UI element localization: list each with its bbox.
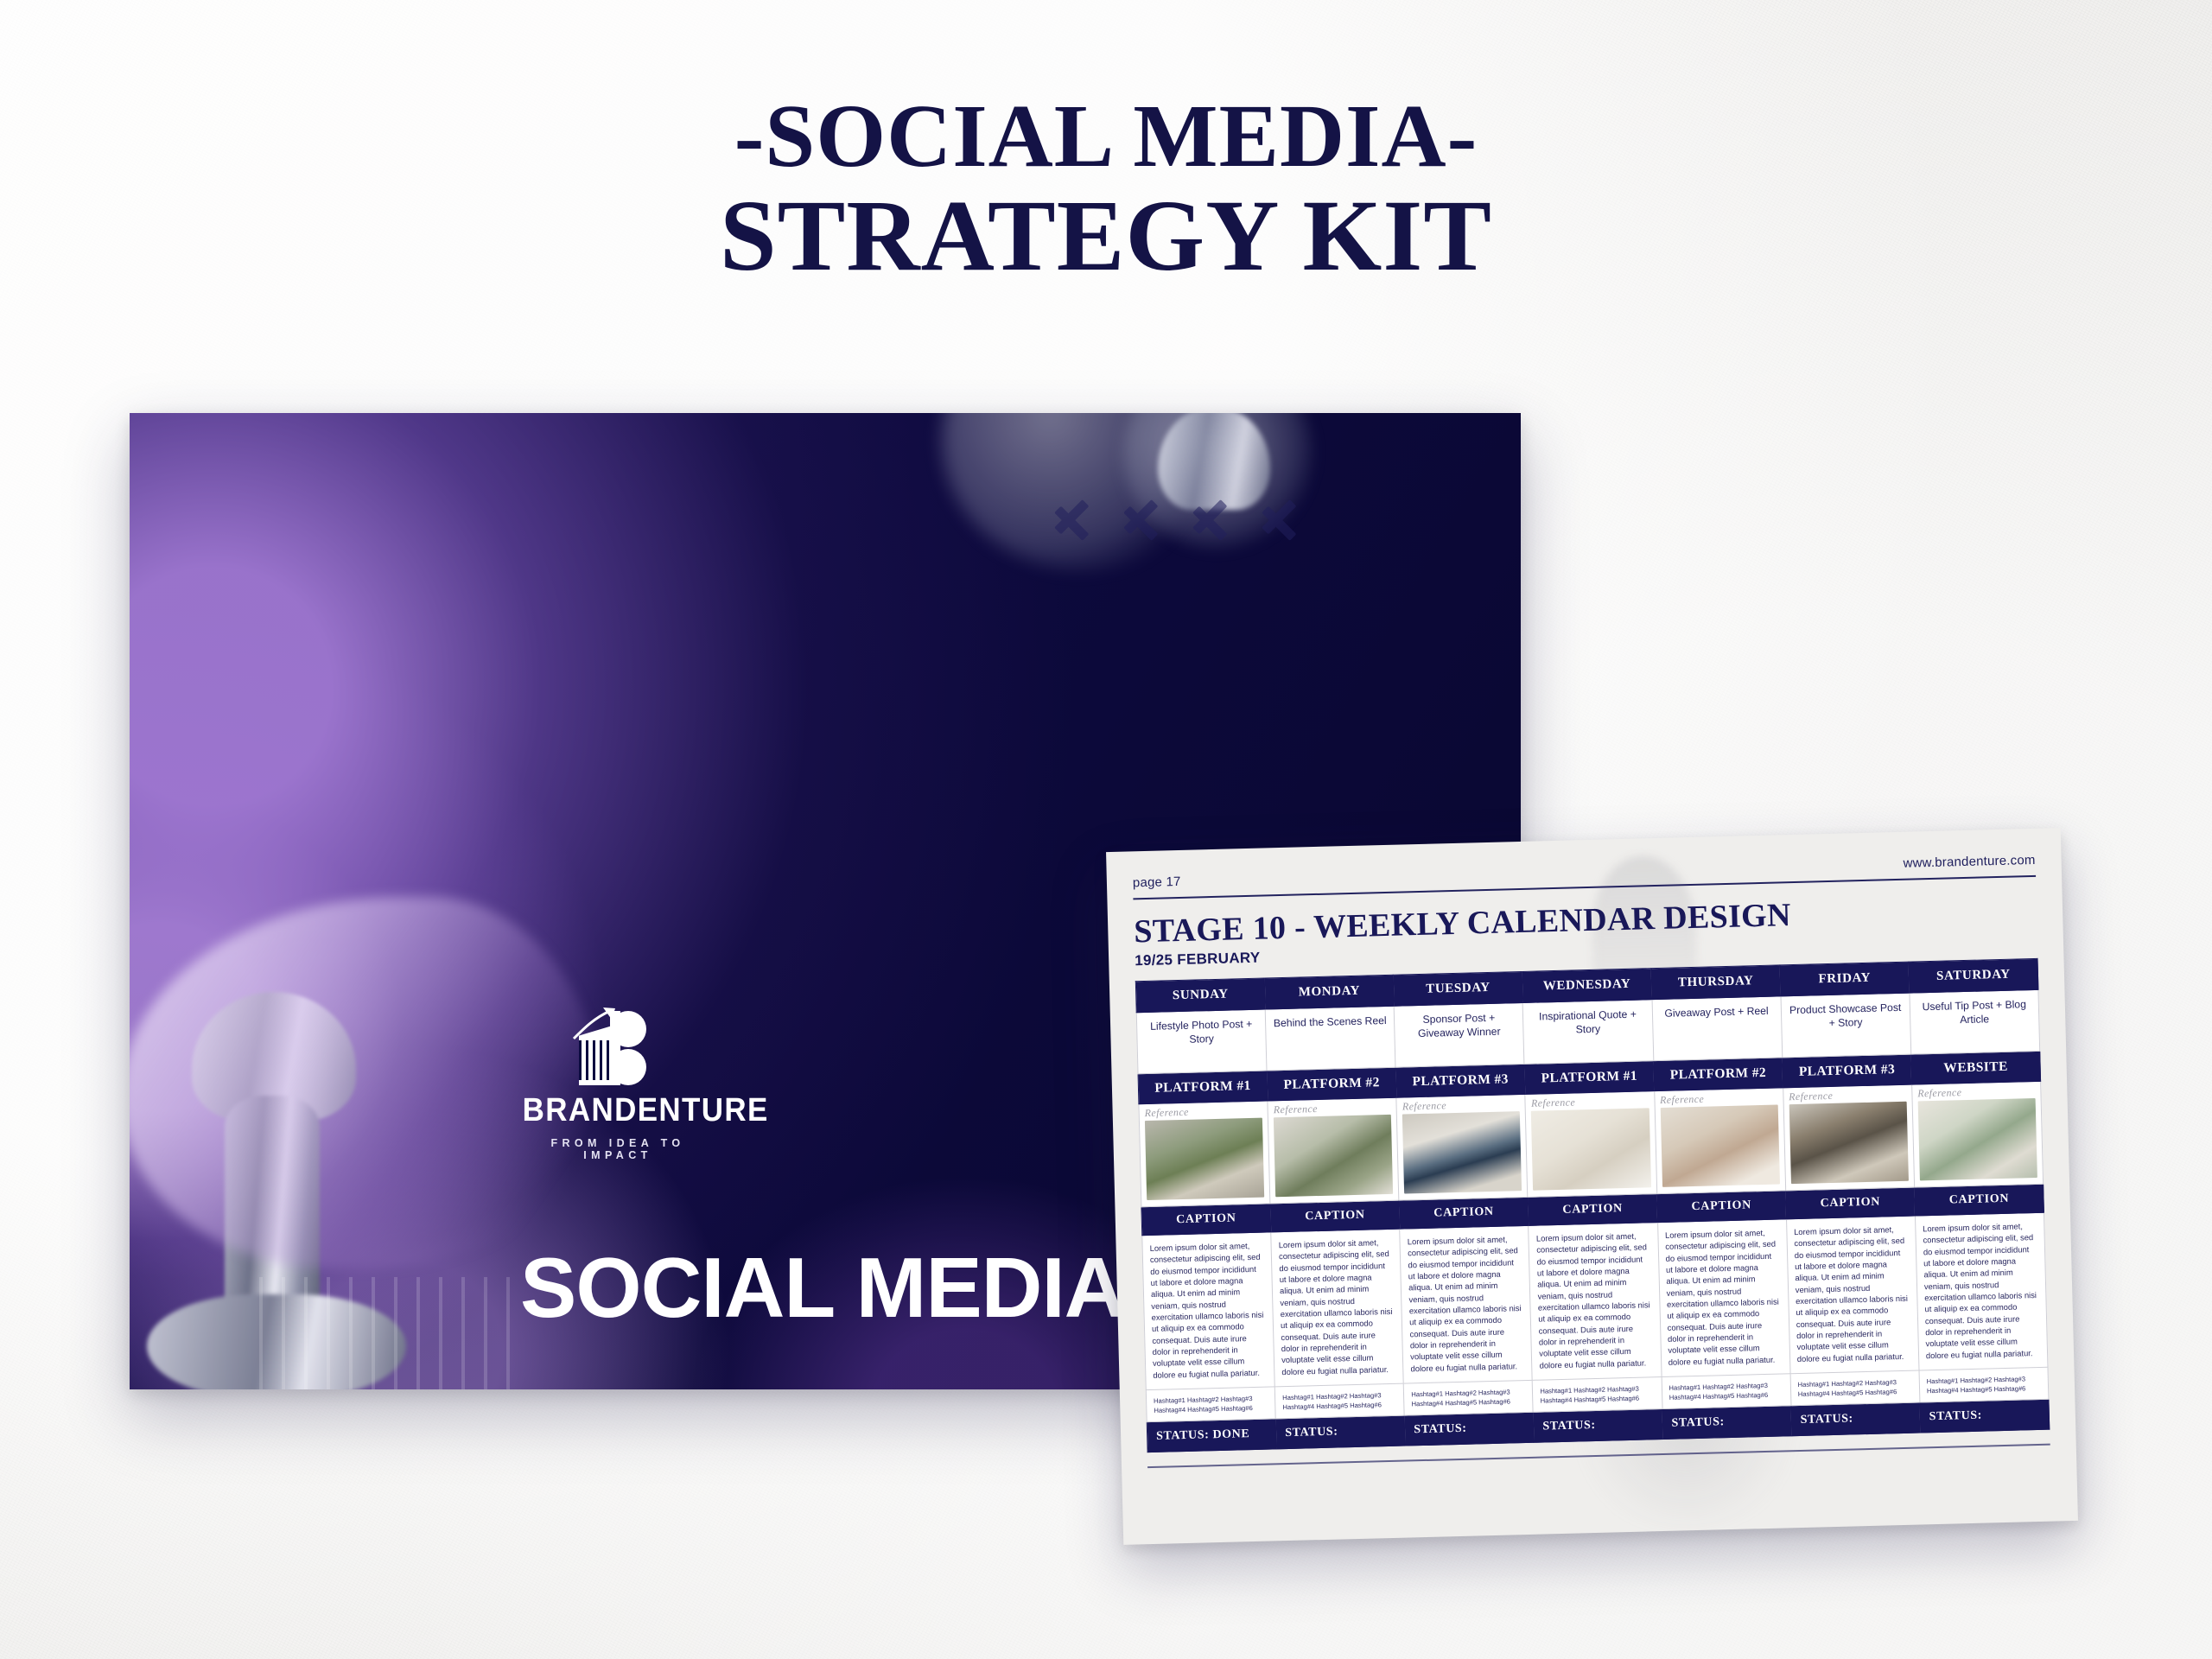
status-cell[interactable]: STATUS:: [1791, 1402, 1921, 1436]
caption-body-cell[interactable]: Lorem ipsum dolor sit amet, consectetur …: [1529, 1223, 1662, 1381]
brand-tagline: FROM IDEA TO IMPACT: [514, 1137, 721, 1161]
caption-body-cell[interactable]: Lorem ipsum dolor sit amet, consectetur …: [1142, 1232, 1275, 1390]
hashtags-cell[interactable]: Hashtag#1 Hashtag#2 Hashtag#3 Hashtag#4 …: [1533, 1377, 1662, 1413]
sheet-website-url: www.brandenture.com: [1903, 853, 2035, 871]
hashtags-cell[interactable]: Hashtag#1 Hashtag#2 Hashtag#3 Hashtag#4 …: [1403, 1380, 1533, 1415]
topic-cell[interactable]: Behind the Scenes Reel: [1265, 1006, 1395, 1071]
page-title-line-1: -SOCIAL MEDIA-: [0, 93, 2212, 180]
caption-header-cell: CAPTION: [1141, 1204, 1271, 1236]
brandenture-monogram-icon: [553, 1006, 683, 1089]
caption-header-cell: CAPTION: [1914, 1184, 2044, 1216]
media-cell[interactable]: Reference: [1654, 1088, 1785, 1194]
day-header-cell: THURSDAY: [1651, 965, 1781, 1000]
day-header-cell: SUNDAY: [1135, 978, 1265, 1013]
caption-header-cell: CAPTION: [1656, 1191, 1786, 1223]
media-cell[interactable]: Reference: [1268, 1097, 1399, 1204]
hashtags-cell[interactable]: Hashtag#1 Hashtag#2 Hashtag#3 Hashtag#4 …: [1790, 1370, 1920, 1406]
day-header-cell: FRIDAY: [1780, 962, 1910, 996]
platform-cell[interactable]: PLATFORM #2: [1267, 1067, 1396, 1101]
caption-header-cell: CAPTION: [1399, 1197, 1529, 1229]
day-header-cell: MONDAY: [1264, 975, 1394, 1009]
status-cell[interactable]: STATUS:: [1534, 1409, 1663, 1443]
status-cell[interactable]: STATUS:: [1404, 1412, 1534, 1446]
topic-cell[interactable]: Product Showcase Post + Story: [1781, 993, 1911, 1058]
caption-header-cell: CAPTION: [1270, 1200, 1400, 1232]
topic-cell[interactable]: Lifestyle Photo Post + Story: [1136, 1009, 1267, 1074]
hashtags-cell[interactable]: Hashtag#1 Hashtag#2 Hashtag#3 Hashtag#4 …: [1146, 1387, 1275, 1422]
reference-image[interactable]: [1917, 1098, 2037, 1180]
reference-image[interactable]: [1145, 1118, 1264, 1200]
media-cell[interactable]: Reference: [1525, 1091, 1656, 1198]
caption-body-cell[interactable]: Lorem ipsum dolor sit amet, consectetur …: [1915, 1212, 2048, 1370]
topic-cell[interactable]: Giveaway Post + Reel: [1652, 996, 1783, 1061]
platform-cell[interactable]: PLATFORM #3: [1395, 1064, 1525, 1097]
chevron-right-icon: [1191, 480, 1237, 560]
topic-cell[interactable]: Sponsor Post + Giveaway Winner: [1394, 1002, 1524, 1067]
chevron-right-icon: [1260, 480, 1306, 560]
reference-image[interactable]: [1660, 1105, 1779, 1187]
sheet-header: page 17 www.brandenture.com: [1133, 853, 2036, 890]
caption-body-cell[interactable]: Lorem ipsum dolor sit amet, consectetur …: [1400, 1225, 1533, 1383]
media-cell[interactable]: Reference: [1139, 1101, 1270, 1207]
reference-image[interactable]: [1274, 1115, 1393, 1197]
media-cell[interactable]: Reference: [1783, 1084, 1914, 1191]
chevron-right-icon: [1122, 480, 1168, 560]
caption-body-cell[interactable]: Lorem ipsum dolor sit amet, consectetur …: [1271, 1229, 1404, 1387]
platform-cell[interactable]: PLATFORM #1: [1138, 1071, 1268, 1104]
chevron-right-icon: [1052, 480, 1099, 560]
platform-cell[interactable]: PLATFORM #2: [1653, 1058, 1783, 1091]
reference-image[interactable]: [1789, 1102, 1908, 1184]
platform-cell[interactable]: PLATFORM #3: [1783, 1054, 1912, 1088]
page-number-label: page 17: [1133, 874, 1181, 890]
hashtags-cell[interactable]: Hashtag#1 Hashtag#2 Hashtag#3 Hashtag#4 …: [1662, 1374, 1791, 1409]
brand-logo: BRANDENTURE FROM IDEA TO IMPACT: [514, 1006, 721, 1161]
page-title: -SOCIAL MEDIA- STRATEGY KIT: [0, 93, 2212, 287]
topic-cell[interactable]: Useful Tip Post + Blog Article: [1910, 989, 2040, 1054]
reference-image[interactable]: [1531, 1108, 1650, 1190]
caption-body-cell[interactable]: Lorem ipsum dolor sit amet, consectetur …: [1657, 1219, 1790, 1377]
reference-image[interactable]: [1402, 1111, 1522, 1193]
day-header-cell: TUESDAY: [1394, 971, 1523, 1006]
caption-body-cell[interactable]: Lorem ipsum dolor sit amet, consectetur …: [1786, 1216, 1919, 1374]
hashtags-cell[interactable]: Hashtag#1 Hashtag#2 Hashtag#3 Hashtag#4 …: [1274, 1383, 1404, 1419]
table-row-caption-body: Lorem ipsum dolor sit amet, consectetur …: [1142, 1212, 2048, 1389]
chevron-decoration-group: [1052, 480, 1306, 560]
day-header-cell: SATURDAY: [1909, 958, 2038, 993]
platform-cell[interactable]: PLATFORM #1: [1524, 1061, 1654, 1095]
weekly-calendar-table[interactable]: SUNDAYMONDAYTUESDAYWEDNESDAYTHURSDAYFRID…: [1135, 958, 2050, 1452]
media-cell[interactable]: Reference: [1911, 1081, 2043, 1187]
hashtags-cell[interactable]: Hashtag#1 Hashtag#2 Hashtag#3 Hashtag#4 …: [1919, 1367, 2049, 1402]
stripe-decoration: [259, 1277, 518, 1389]
brand-name: BRANDENTURE: [523, 1092, 714, 1129]
day-header-cell: WEDNESDAY: [1522, 969, 1652, 1003]
topic-cell[interactable]: Inspirational Quote + Story: [1523, 1000, 1654, 1065]
caption-header-cell: CAPTION: [1785, 1187, 1915, 1219]
status-cell[interactable]: STATUS:: [1275, 1415, 1405, 1449]
weekly-calendar-sheet[interactable]: page 17 www.brandenture.com STAGE 10 - W…: [1106, 828, 2078, 1545]
status-cell[interactable]: STATUS:: [1662, 1406, 1792, 1440]
status-cell[interactable]: STATUS: DONE: [1147, 1419, 1276, 1452]
caption-header-cell: CAPTION: [1528, 1194, 1657, 1226]
media-cell[interactable]: Reference: [1396, 1094, 1528, 1200]
platform-cell[interactable]: WEBSITE: [1911, 1051, 2041, 1084]
page-title-line-2: STRATEGY KIT: [0, 185, 2212, 287]
status-cell[interactable]: STATUS:: [1920, 1399, 2050, 1433]
